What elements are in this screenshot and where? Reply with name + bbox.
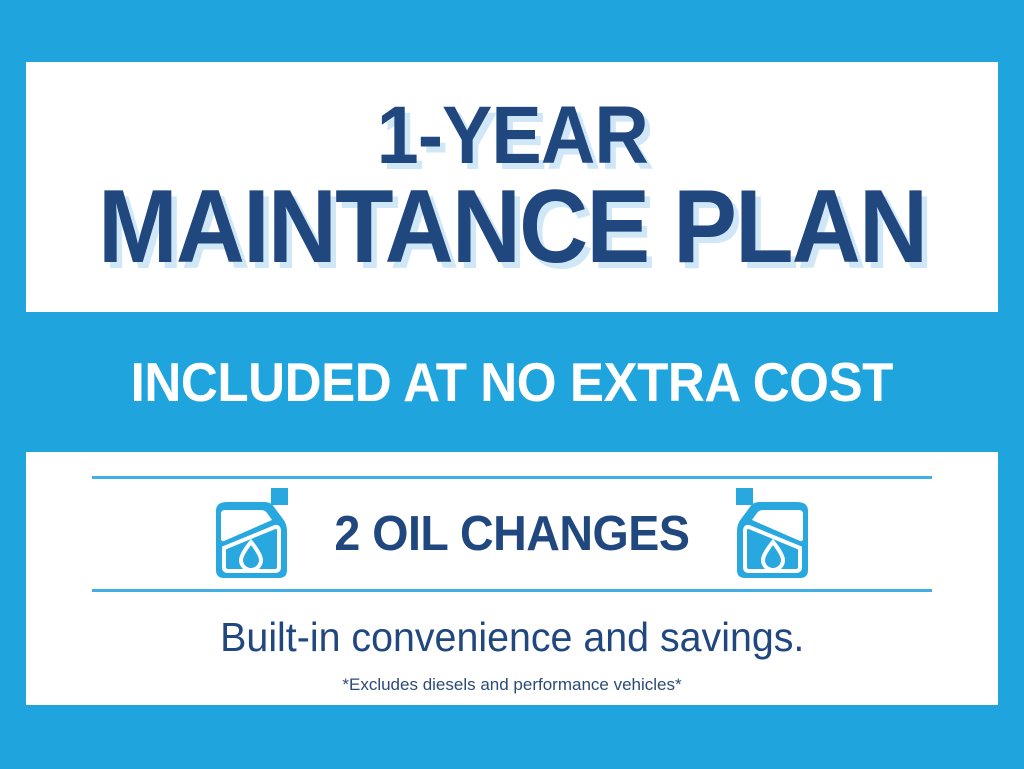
headline-line-1: 1-YEAR — [376, 98, 647, 173]
oil-jug-icon-left — [213, 486, 291, 582]
benefit-row: 2 OIL CHANGES — [92, 479, 932, 589]
headline-card: 1-YEAR MAINTANCE PLAN — [26, 62, 998, 312]
oil-jug-icon-right — [733, 486, 811, 582]
subtitle-text: INCLUDED AT NO EXTRA COST — [131, 350, 893, 414]
fineprint-text: *Excludes diesels and performance vehicl… — [342, 675, 681, 695]
subtitle-band: INCLUDED AT NO EXTRA COST — [0, 312, 1024, 452]
benefit-label: 2 OIL CHANGES — [334, 506, 689, 562]
divider-bottom — [92, 589, 932, 592]
promo-poster: 1-YEAR MAINTANCE PLAN INCLUDED AT NO EXT… — [0, 0, 1024, 769]
tagline-text: Built-in convenience and savings. — [220, 614, 804, 661]
details-card: 2 OIL CHANGES Built-in convenience and s… — [26, 452, 998, 705]
headline-line-2: MAINTANCE PLAN — [98, 180, 926, 276]
